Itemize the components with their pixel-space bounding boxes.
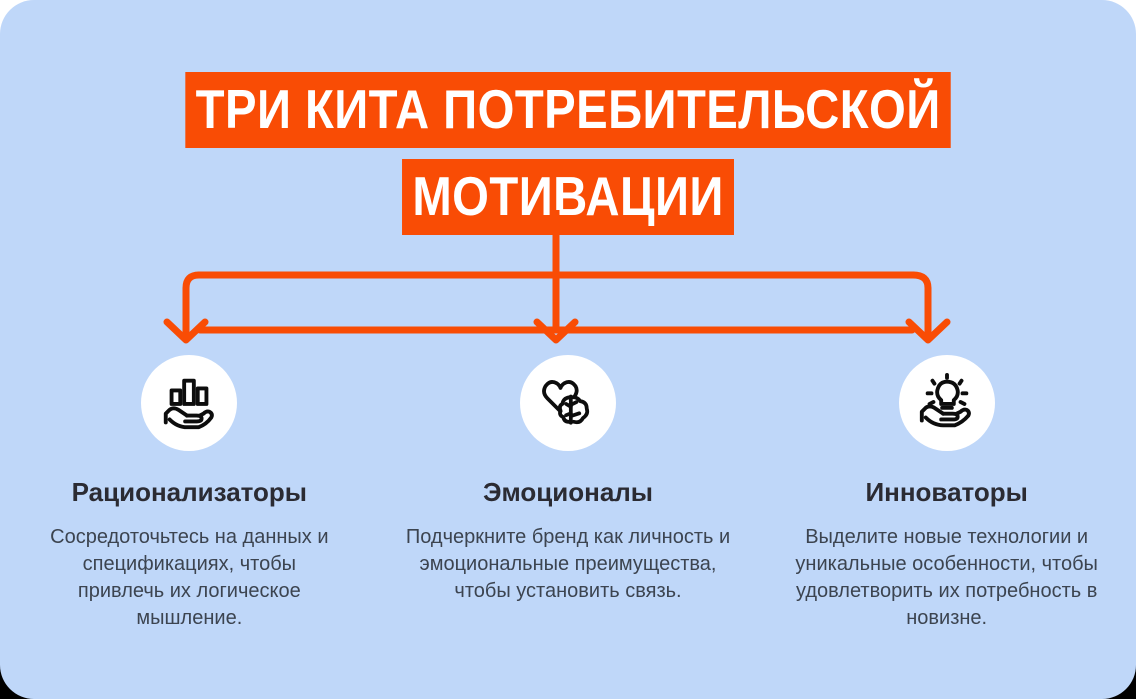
column-title-emotionals: Эмоционалы xyxy=(483,477,653,508)
title-line-1: ТРИ КИТА ПОТРЕБИТЕЛЬСКОЙ xyxy=(185,72,951,148)
infographic-canvas: ТРИ КИТА ПОТРЕБИТЕЛЬСКОЙ МОТИВАЦИИ xyxy=(0,0,1136,699)
hand-holding-lightbulb-icon xyxy=(916,372,978,434)
icon-circle-2 xyxy=(520,355,616,451)
column-emotionals: Эмоционалы Подчеркните бренд как личност… xyxy=(379,355,758,645)
icon-circle-1 xyxy=(141,355,237,451)
connector-left-branch xyxy=(186,275,200,332)
column-title-innovators: Инноваторы xyxy=(865,477,1027,508)
columns-row: Рационализаторы Сосредоточьтесь на данны… xyxy=(0,355,1136,645)
column-innovators: Инноваторы Выделите новые технологии и у… xyxy=(757,355,1136,645)
column-body-emotionals: Подчеркните бренд как личность и эмоцион… xyxy=(403,524,733,605)
heart-brain-icon xyxy=(538,373,598,433)
infographic-card: ТРИ КИТА ПОТРЕБИТЕЛЬСКОЙ МОТИВАЦИИ xyxy=(0,0,1136,699)
column-body-rationalizers: Сосредоточьтесь на данных и спецификация… xyxy=(39,524,339,632)
column-body-innovators: Выделите новые технологии и уникальные о… xyxy=(782,524,1112,632)
connector-arrows xyxy=(0,210,1136,355)
column-rationalizers: Рационализаторы Сосредоточьтесь на данны… xyxy=(0,355,379,645)
icon-circle-3 xyxy=(899,355,995,451)
hand-holding-bar-chart-icon xyxy=(158,372,220,434)
column-title-rationalizers: Рационализаторы xyxy=(72,477,307,508)
